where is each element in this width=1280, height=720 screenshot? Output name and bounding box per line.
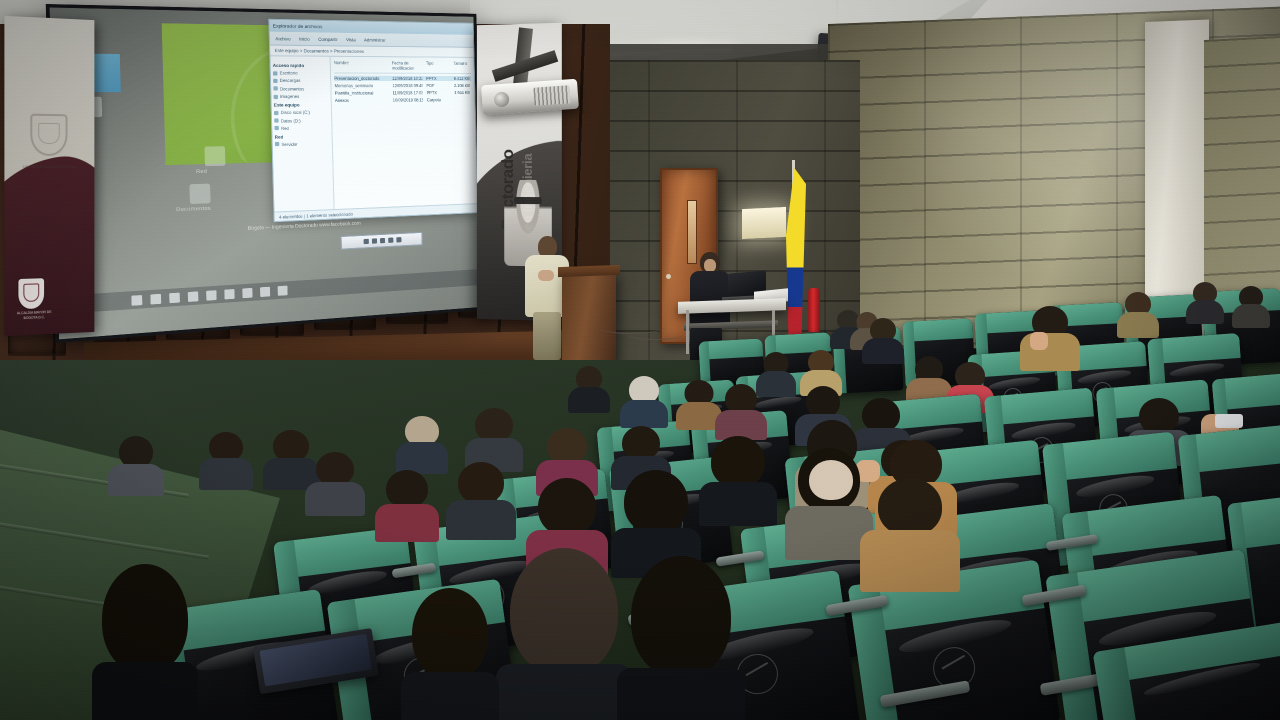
- media-player-bar[interactable]: [341, 232, 423, 250]
- nav-item[interactable]: Documentos: [273, 86, 328, 91]
- person-head-long-hair: [624, 470, 688, 534]
- cell-fecha: 10/09/2018 08:15: [393, 97, 423, 102]
- file-explorer-window[interactable]: Explorador de archivos Archivo Inicio Co…: [268, 19, 478, 222]
- person-shoulders: [617, 668, 745, 720]
- cell-tamano: 2.108 KB: [454, 82, 470, 87]
- person-shoulders: [568, 387, 610, 413]
- folder-icon: [274, 94, 278, 98]
- folder-icon: [273, 79, 277, 83]
- cell-fecha: 12/09/2018 10:22: [392, 75, 422, 80]
- desktop-icon[interactable]: [189, 184, 210, 204]
- person-head-long-hair: [102, 564, 188, 674]
- person-head-long-hair: [538, 478, 596, 536]
- address-text: Este equipo > Documentos > Presentacione…: [275, 48, 364, 54]
- settings-icon[interactable]: [396, 237, 401, 242]
- nav-item[interactable]: Escritorio: [273, 70, 328, 75]
- person-shoulders: [199, 458, 253, 490]
- network-icon: [274, 126, 278, 130]
- audience-person: [862, 318, 904, 362]
- person-hand: [1030, 332, 1048, 350]
- column-nombre: Nombre: [334, 60, 388, 71]
- explorer-icon[interactable]: [188, 291, 199, 302]
- audience-person-foreground: [96, 564, 194, 720]
- person-shoulders: [401, 672, 499, 720]
- person-shoulders: [305, 482, 365, 516]
- cell-tipo: PDF: [426, 82, 450, 87]
- person-head: [878, 478, 942, 536]
- ribbon-tab-compartir[interactable]: Compartir: [318, 36, 338, 42]
- audience-person: [376, 470, 438, 538]
- table-row[interactable]: Anexos 10/09/2018 08:15 Carpeta: [335, 97, 472, 103]
- projected-desktop: Recycle Bin Equipo Red Documentos Explor…: [50, 8, 481, 340]
- cell-nombre: Memorias_seminario: [334, 83, 388, 88]
- audience-person: [466, 408, 522, 470]
- start-icon[interactable]: [131, 294, 142, 305]
- person-shoulders: [1020, 333, 1080, 371]
- media-icon[interactable]: [260, 286, 270, 296]
- nav-item-label: Red: [281, 126, 289, 131]
- folder-icon: [273, 87, 277, 91]
- nav-section-head: Este equipo: [274, 102, 329, 108]
- nav-section-head: Red: [275, 133, 330, 139]
- folder-icon: [273, 71, 277, 75]
- person-shoulders: [375, 504, 439, 542]
- seat-gloss: [1169, 360, 1225, 379]
- person-head: [458, 462, 504, 504]
- podium-top: [558, 265, 620, 277]
- mail-icon[interactable]: [224, 288, 234, 298]
- person-shoulders: [496, 664, 632, 720]
- file-list-header: Nombre Fecha de modificacion Tipo Tamano: [334, 60, 471, 73]
- table-row[interactable]: Memorias_seminario 12/09/2018 09:45 PDF …: [334, 82, 471, 87]
- browser-icon[interactable]: [206, 290, 217, 300]
- nav-item-label: Escritorio: [279, 70, 297, 75]
- smartphone-icon: [1215, 414, 1243, 428]
- column-fecha: Fecha de modificacion: [392, 60, 422, 70]
- explorer-nav-pane[interactable]: Acceso rapido Escritorio Descargas Docum…: [270, 56, 335, 222]
- desktop-icon[interactable]: [204, 146, 225, 166]
- cell-tamano: 1.944 KB: [454, 90, 470, 95]
- person-shoulders: [1186, 300, 1224, 324]
- person-head: [547, 428, 587, 464]
- status-text: 4 elementos | 1 elemento seleccionado: [279, 211, 353, 219]
- pause-icon[interactable]: [371, 238, 376, 243]
- person-shoulders: [620, 400, 668, 428]
- person-shoulders: [108, 464, 164, 496]
- person-shoulders: [860, 530, 960, 592]
- column-tipo: Tipo: [426, 61, 450, 71]
- nav-item[interactable]: Imagenes: [274, 94, 329, 100]
- person-shoulders: [92, 662, 198, 720]
- nav-item[interactable]: Datos (D:): [274, 117, 329, 123]
- person-shoulders: [862, 338, 904, 364]
- audience-person: [448, 462, 514, 536]
- person-head: [1139, 398, 1179, 434]
- audience-person: [396, 416, 448, 472]
- person-hand: [809, 460, 853, 500]
- play-icon[interactable]: [363, 239, 368, 244]
- person-head: [412, 588, 488, 680]
- cell-fecha: 11/09/2018 17:03: [392, 90, 422, 95]
- nav-item[interactable]: Servidor: [275, 141, 330, 147]
- drive-icon: [274, 118, 278, 122]
- cell-tipo: PPTX: [426, 75, 450, 80]
- person-shoulders: [446, 500, 516, 540]
- banner-institution-line: UNIVERSIDAD DISTRITAL: [12, 164, 86, 169]
- column-tamano: Tamano: [453, 61, 467, 71]
- server-icon: [275, 142, 279, 146]
- person-head-long-hair: [631, 556, 731, 678]
- nav-item-label: Servidor: [281, 141, 297, 147]
- table-row[interactable]: Plantilla_institucional 11/09/2018 17:03…: [335, 89, 472, 95]
- person-head: [475, 408, 513, 442]
- person-shoulders: [1117, 312, 1159, 338]
- auditorium-photo: Recycle Bin Equipo Red Documentos Explor…: [0, 0, 1280, 720]
- cell-fecha: 12/09/2018 09:45: [392, 82, 422, 87]
- cell-tipo: Carpeta: [427, 97, 451, 102]
- explorer-file-list[interactable]: Nombre Fecha de modificacion Tipo Tamano…: [331, 57, 478, 221]
- cell-nombre: Presentacion_doctorado: [334, 75, 388, 80]
- search-icon[interactable]: [150, 293, 161, 304]
- person-head-short-hair: [510, 548, 618, 676]
- cell-tamano: 8.412 KB: [454, 75, 470, 80]
- powerpoint-icon[interactable]: [242, 287, 252, 297]
- audience-person: [620, 376, 668, 426]
- audience-person: [200, 432, 252, 488]
- desktop-icon-label: Red: [196, 168, 207, 175]
- nav-item-label: Datos (D:): [281, 118, 301, 124]
- audience-person: [700, 436, 776, 522]
- volume-icon[interactable]: [388, 238, 393, 243]
- explorer-body: Acceso rapido Escritorio Descargas Docum…: [270, 56, 477, 222]
- audience-person-foreground: [620, 556, 742, 720]
- audience-person: [1232, 286, 1270, 326]
- banner-left: UNIVERSIDAD DISTRITAL ALCALDIA MAYOR DE …: [4, 16, 94, 336]
- presenter-legs: [533, 312, 561, 360]
- audience-person: [568, 366, 610, 412]
- bogota-shield-icon: [18, 278, 44, 309]
- projection-screen: Recycle Bin Equipo Red Documentos Explor…: [46, 4, 484, 343]
- person-head: [622, 426, 660, 460]
- drive-icon: [274, 111, 278, 115]
- nav-section-head: Acceso rapido: [273, 63, 328, 69]
- cell-nombre: Plantilla_institucional: [335, 90, 389, 95]
- ribbon-tab-vista[interactable]: Vista: [346, 37, 356, 42]
- person-shoulders: [1232, 304, 1270, 328]
- audience-person: [800, 460, 862, 530]
- nav-item-label: Documentos: [280, 86, 304, 91]
- nav-item[interactable]: Descargas: [273, 78, 328, 83]
- ribbon-tab-inicio[interactable]: Inicio: [299, 36, 310, 41]
- cell-tipo: PPTX: [427, 90, 451, 95]
- table-row[interactable]: Presentacion_doctorado 12/09/2018 10:22 …: [334, 75, 471, 80]
- projector-vents: [533, 85, 570, 105]
- explorer-title: Explorador de archivos: [273, 23, 323, 29]
- audience-person: [716, 384, 766, 438]
- audience-person: [1118, 292, 1158, 336]
- person-head: [386, 470, 428, 508]
- desktop-icon-label: Documentos: [176, 205, 211, 213]
- audience-person: [1186, 282, 1224, 322]
- tray-icon[interactable]: [278, 285, 288, 295]
- windows-taskbar[interactable]: [58, 269, 480, 314]
- nav-item[interactable]: Disco local (C:): [274, 110, 329, 116]
- projector-lens-icon: [494, 91, 510, 107]
- stop-icon[interactable]: [380, 238, 385, 243]
- banner-city-caption: ALCALDIA MAYOR DE BOGOTA D.C.: [12, 310, 55, 322]
- door-knob-icon[interactable]: [666, 274, 671, 279]
- floor-cable: [626, 328, 684, 340]
- audience-person-foreground: [500, 548, 628, 720]
- nav-item-label: Imagenes: [280, 94, 299, 99]
- fire-extinguisher-icon: [808, 288, 820, 332]
- audience-person-foreground: [404, 588, 496, 720]
- ribbon-tab-administrar[interactable]: Administrar: [364, 37, 386, 42]
- presenter-hands: [538, 270, 554, 281]
- person-shoulders: [699, 482, 777, 526]
- audience-person: [862, 478, 958, 588]
- person-head: [316, 452, 354, 486]
- cell-nombre: Anexos: [335, 97, 389, 103]
- audience-person: [306, 452, 364, 514]
- nav-item-label: Descargas: [280, 78, 301, 83]
- taskview-icon[interactable]: [169, 292, 180, 303]
- nav-item-label: Disco local (C:): [281, 110, 310, 116]
- aisle-step: [0, 516, 209, 559]
- slide-caption: Bogota — Ingenieria Doctorado www.facebo…: [234, 220, 374, 234]
- university-crest-icon: [30, 114, 67, 156]
- person-head-long-hair: [711, 436, 765, 488]
- audience-person: [110, 436, 162, 494]
- ribbon-tab-archivo[interactable]: Archivo: [275, 35, 290, 41]
- wall-sconce-light: [742, 207, 786, 239]
- nav-item[interactable]: Red: [274, 125, 329, 131]
